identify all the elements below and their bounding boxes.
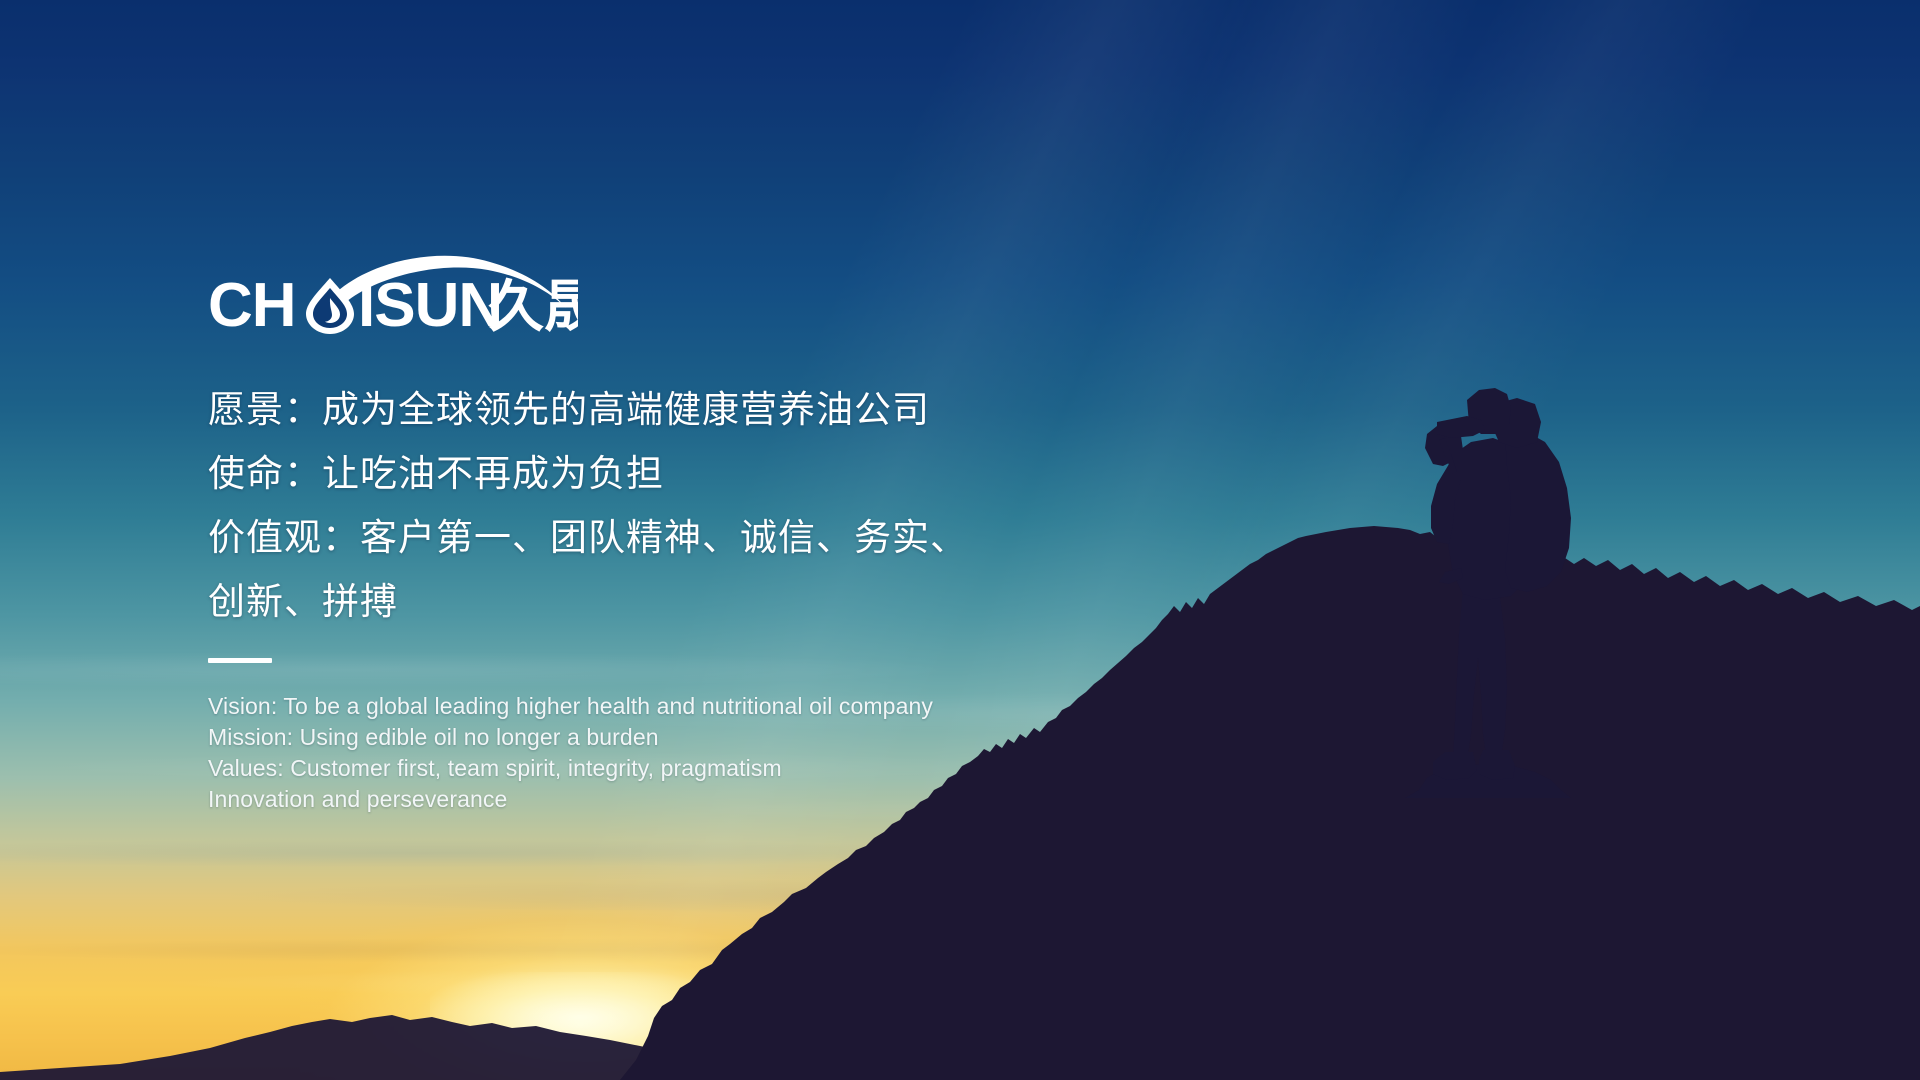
- content-block: CH ISUN 久晟 愿景：成为全球领先的高端健康营养油公司 使命：让吃油不再成…: [208, 246, 1308, 815]
- logo-wordmark-isun: ISUN: [358, 271, 502, 340]
- mission-line-en: Mission: Using edible oil no longer a bu…: [208, 722, 1308, 753]
- divider-rule: [208, 658, 272, 663]
- vision-line-en: Vision: To be a global leading higher he…: [208, 691, 1308, 722]
- english-statement-block: Vision: To be a global leading higher he…: [208, 691, 1308, 815]
- values-line-cn-2: 创新、拼搏: [208, 570, 1308, 634]
- slide-canvas: CH ISUN 久晟 愿景：成为全球领先的高端健康营养油公司 使命：让吃油不再成…: [0, 0, 1920, 1080]
- vision-line-cn: 愿景：成为全球领先的高端健康营养油公司: [208, 378, 1308, 442]
- values-line-en: Values: Customer first, team spirit, int…: [208, 753, 1308, 784]
- values-line-cn: 价值观：客户第一、团队精神、诚信、务实、: [208, 506, 1308, 570]
- hiker-silhouette: [1375, 338, 1605, 798]
- choisun-logo[interactable]: CH ISUN 久晟: [208, 246, 578, 342]
- innovation-line-en: Innovation and perseverance: [208, 784, 1308, 815]
- mission-line-cn: 使命：让吃油不再成为负担: [208, 442, 1308, 506]
- chinese-statement-block: 愿景：成为全球领先的高端健康营养油公司 使命：让吃油不再成为负担 价值观：客户第…: [208, 378, 1308, 634]
- logo-chinese-name: 久晟: [488, 275, 578, 340]
- logo-wordmark-ch: CH: [208, 271, 296, 340]
- logo-artwork: CH ISUN 久晟: [208, 246, 578, 342]
